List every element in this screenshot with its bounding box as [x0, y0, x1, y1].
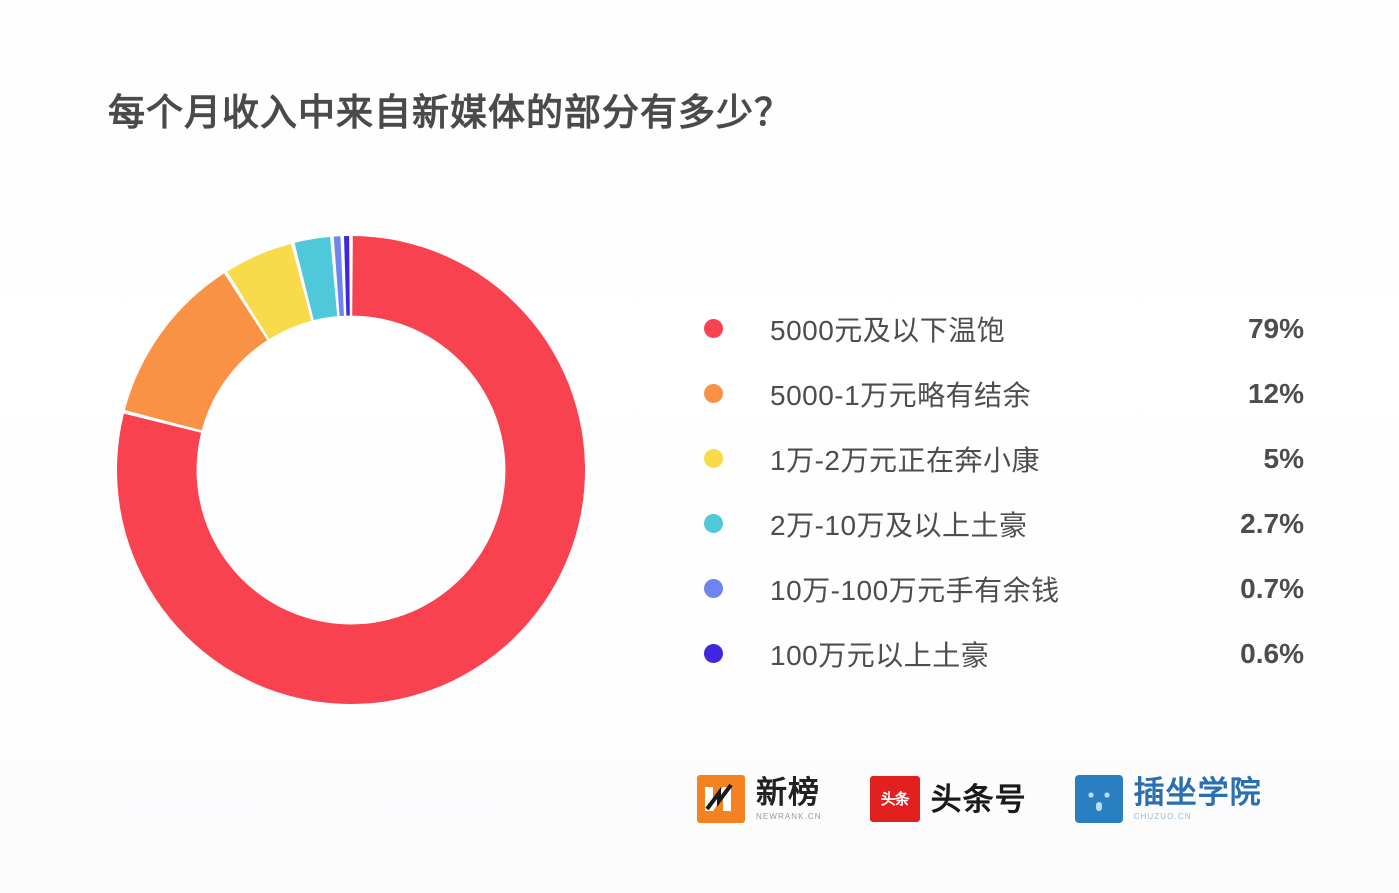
page-title: 每个月收入中来自新媒体的部分有多少？: [108, 82, 792, 136]
donut-slices: [117, 236, 585, 704]
logo-chuzuo[interactable]: 插坐学院 CHUZUO.CN: [1075, 775, 1262, 823]
legend-item-4[interactable]: 10万-100万元手有余钱 0.7%: [704, 556, 1304, 621]
legend-value-3: 2.7%: [1194, 508, 1304, 540]
chart-legend: 5000元及以下温饱 79% 5000-1万元略有结余 12% 1万-2万元正在…: [704, 296, 1304, 686]
toutiaohao-logo-name: 头条号: [931, 784, 1027, 815]
legend-color-swatch-icon-2: [704, 449, 723, 468]
legend-label-3: 2万-10万及以上土豪: [770, 504, 1194, 544]
legend-label-5: 100万元以上土豪: [770, 634, 1194, 674]
legend-value-5: 0.6%: [1194, 638, 1304, 670]
legend-label-4: 10万-100万元手有余钱: [770, 569, 1194, 609]
logo-newrank[interactable]: 新榜 NEWRANK.CN: [697, 775, 822, 823]
donut-slice-5[interactable]: [344, 236, 350, 316]
legend-color-swatch-icon-3: [704, 514, 723, 533]
newrank-logo-name: 新榜: [756, 777, 822, 808]
newrank-logo-sub: NEWRANK.CN: [756, 812, 822, 821]
legend-item-3[interactable]: 2万-10万及以上土豪 2.7%: [704, 491, 1304, 556]
newrank-logo-texts: 新榜 NEWRANK.CN: [756, 777, 822, 821]
legend-value-4: 0.7%: [1194, 573, 1304, 605]
newrank-logo-icon: [697, 775, 745, 823]
legend-item-2[interactable]: 1万-2万元正在奔小康 5%: [704, 426, 1304, 491]
toutiaohao-logo-icon: 头条: [870, 776, 920, 822]
logo-toutiaohao[interactable]: 头条 头条号: [870, 776, 1027, 822]
legend-value-1: 12%: [1194, 378, 1304, 410]
legend-label-1: 5000-1万元略有结余: [770, 374, 1194, 414]
legend-color-swatch-icon-1: [704, 384, 723, 403]
legend-value-2: 5%: [1194, 443, 1304, 475]
legend-label-2: 1万-2万元正在奔小康: [770, 439, 1194, 479]
legend-item-5[interactable]: 100万元以上土豪 0.6%: [704, 621, 1304, 686]
donut-chart-svg: [117, 236, 585, 704]
legend-label-0: 5000元及以下温饱: [770, 309, 1194, 349]
legend-color-swatch-icon-4: [704, 579, 723, 598]
donut-chart: [117, 236, 585, 704]
chuzuo-logo-icon: [1075, 775, 1123, 823]
toutiaohao-logo-texts: 头条号: [931, 784, 1027, 815]
footer-logos: 新榜 NEWRANK.CN 头条 头条号 插坐学院 CHUZUO.CN: [697, 775, 1262, 823]
legend-value-0: 79%: [1194, 313, 1304, 345]
legend-color-swatch-icon-0: [704, 319, 723, 338]
legend-item-0[interactable]: 5000元及以下温饱 79%: [704, 296, 1304, 361]
legend-color-swatch-icon-5: [704, 644, 723, 663]
legend-item-1[interactable]: 5000-1万元略有结余 12%: [704, 361, 1304, 426]
chuzuo-logo-name: 插坐学院: [1134, 777, 1262, 808]
chuzuo-logo-texts: 插坐学院 CHUZUO.CN: [1134, 777, 1262, 821]
chuzuo-logo-sub: CHUZUO.CN: [1134, 812, 1262, 821]
